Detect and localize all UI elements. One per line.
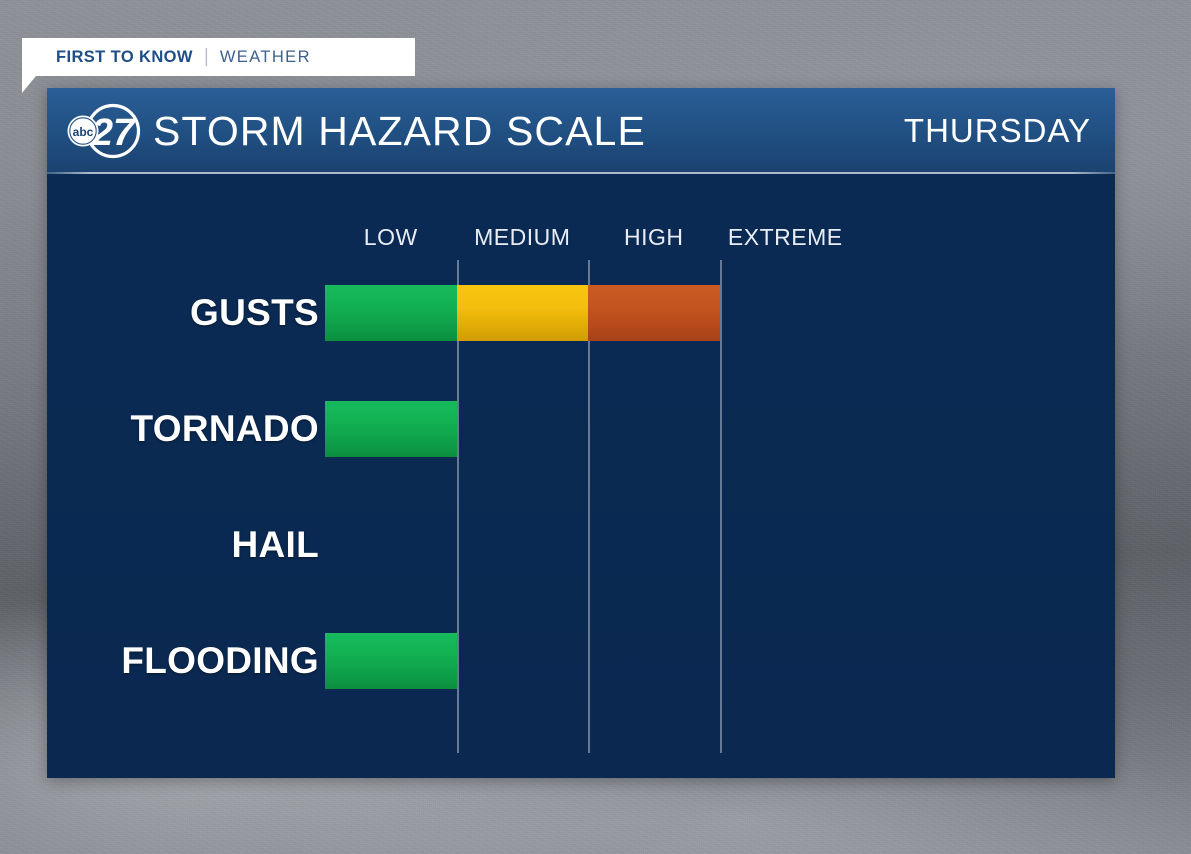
- hazard-bar-track-gusts: [325, 285, 851, 341]
- hazard-segment-gusts-low: [325, 285, 457, 341]
- hazard-row-tornado: TORNADO: [47, 401, 1115, 457]
- hazard-segment-gusts-medium: [457, 285, 589, 341]
- hazard-bar-track-hail: [325, 517, 851, 573]
- column-header-low: LOW: [364, 224, 418, 251]
- hazard-row-label-gusts: GUSTS: [47, 285, 319, 341]
- hazard-segment-gusts-high: [588, 285, 720, 341]
- hazard-row-label-flooding: FLOODING: [47, 633, 319, 689]
- hazard-row-flooding: FLOODING: [47, 633, 1115, 689]
- column-header-extreme: EXTREME: [728, 224, 843, 251]
- column-header-high: HIGH: [624, 224, 684, 251]
- hazard-bar-track-flooding: [325, 633, 851, 689]
- panel-header: 27 abc STORM HAZARD SCALE THURSDAY: [47, 88, 1115, 174]
- page-title: STORM HAZARD SCALE: [153, 108, 646, 155]
- brand-primary-label: FIRST TO KNOW: [56, 48, 193, 67]
- column-header-medium: MEDIUM: [474, 224, 570, 251]
- first-to-know-weather-tab: FIRST TO KNOW | WEATHER: [22, 38, 415, 76]
- hazard-row-hail: HAIL: [47, 517, 1115, 573]
- brand-secondary-label: WEATHER: [220, 48, 311, 67]
- hazard-row-label-tornado: TORNADO: [47, 401, 319, 457]
- brand-tab-tail: [22, 76, 36, 93]
- hazard-segment-tornado-low: [325, 401, 457, 457]
- svg-text:abc: abc: [73, 125, 94, 139]
- hazard-row-label-hail: HAIL: [47, 517, 319, 573]
- hazard-grid: LOWMEDIUMHIGHEXTREMEGUSTSTORNADOHAILFLOO…: [47, 174, 1115, 778]
- storm-hazard-scale-panel: 27 abc STORM HAZARD SCALE THURSDAY LOWME…: [47, 88, 1115, 778]
- hazard-bar-track-tornado: [325, 401, 851, 457]
- hazard-row-gusts: GUSTS: [47, 285, 1115, 341]
- hazard-segment-flooding-low: [325, 633, 457, 689]
- daypart-label: THURSDAY: [904, 112, 1091, 150]
- brand-separator: |: [204, 46, 209, 68]
- abc27-logo-icon: 27 abc: [61, 100, 149, 162]
